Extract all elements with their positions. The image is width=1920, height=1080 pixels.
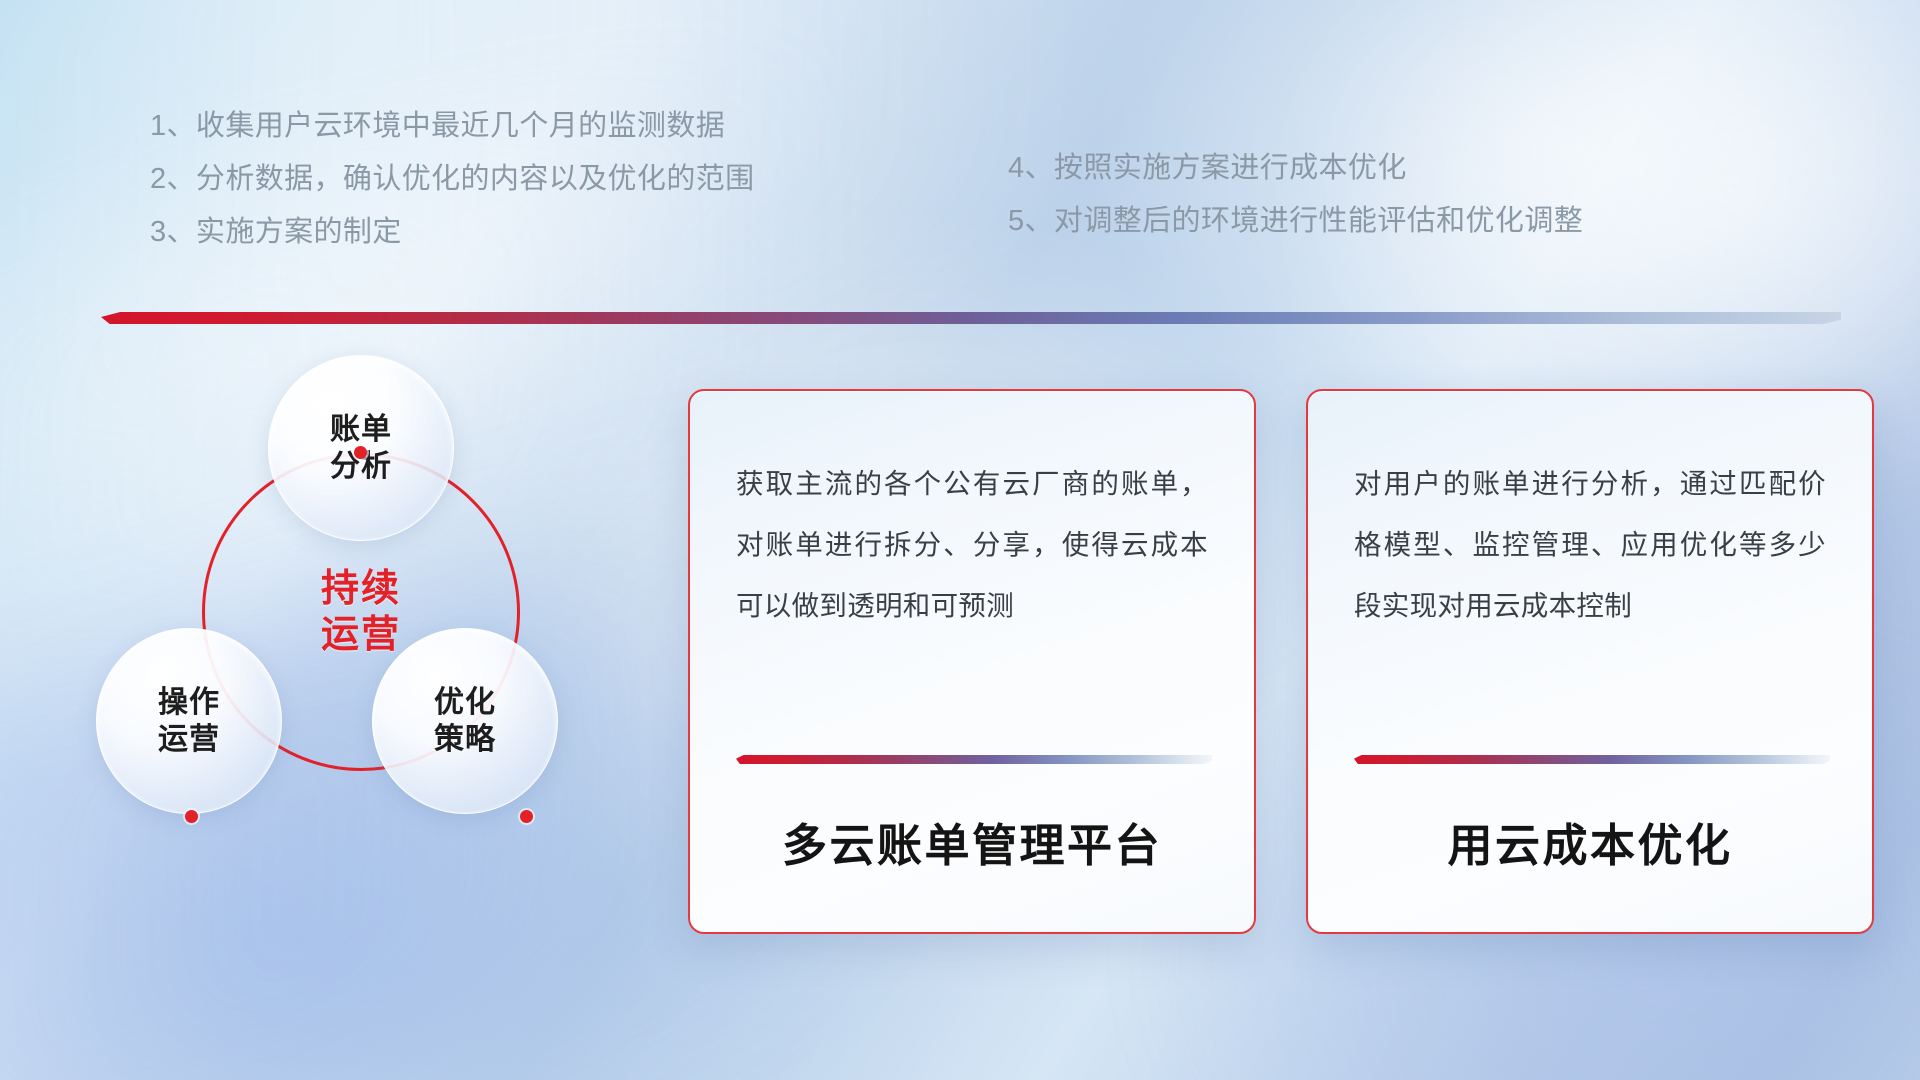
section-divider-bar (101, 312, 1841, 324)
card-title: 用云成本优化 (1308, 809, 1872, 874)
venn-node-label-line-2: 运营 (158, 721, 220, 758)
venn-node-label-line-1: 操作 (158, 684, 220, 721)
venn-node-operation[interactable]: 操作 运营 (96, 628, 282, 814)
process-step-item: 4、按照实施方案进行成本优化 (1008, 142, 1583, 195)
slide-canvas: 1、收集用户云环境中最近几个月的监测数据 2、分析数据，确认优化的内容以及优化的… (0, 0, 1920, 1080)
venn-node-label: 操作 运营 (158, 684, 220, 758)
venn-node-label-line-1: 账单 (330, 411, 392, 448)
venn-intersection-dot-bottom-left (185, 810, 198, 823)
card-body-text: 对用户的账单进行分析，通过匹配价格模型、监控管理、应用优化等多少段实现对用云成本… (1354, 453, 1826, 636)
continuous-operation-diagram: 持续 运营 账单 分析 操作 运营 优化 策略 (96, 360, 616, 940)
process-step-item: 2、分析数据，确认优化的内容以及优化的范围 (150, 153, 755, 206)
card-accent-rule (1354, 755, 1830, 764)
section-divider (101, 312, 1841, 324)
card-cloud-cost-optimization[interactable]: 对用户的账单进行分析，通过匹配价格模型、监控管理、应用优化等多少段实现对用云成本… (1306, 389, 1874, 934)
venn-node-label-line-1: 优化 (434, 684, 496, 721)
venn-node-label-line-2: 策略 (434, 721, 496, 758)
card-accent-rule-bar (1354, 755, 1830, 764)
card-title: 多云账单管理平台 (690, 809, 1254, 874)
card-body-text: 获取主流的各个公有云厂商的账单，对账单进行拆分、分享，使得云成本可以做到透明和可… (736, 453, 1208, 636)
process-step-item: 5、对调整后的环境进行性能评估和优化调整 (1008, 195, 1583, 248)
card-accent-rule-bar (736, 755, 1212, 764)
venn-intersection-dot-bottom-right (520, 810, 533, 823)
card-multi-cloud-billing[interactable]: 获取主流的各个公有云厂商的账单，对账单进行拆分、分享，使得云成本可以做到透明和可… (688, 389, 1256, 934)
process-step-item: 3、实施方案的制定 (150, 206, 755, 259)
card-accent-rule (736, 755, 1212, 764)
process-steps-left-column: 1、收集用户云环境中最近几个月的监测数据 2、分析数据，确认优化的内容以及优化的… (150, 100, 755, 259)
process-step-item: 1、收集用户云环境中最近几个月的监测数据 (150, 100, 755, 153)
venn-intersection-dot-top (354, 446, 367, 459)
process-steps-list: 1、收集用户云环境中最近几个月的监测数据 2、分析数据，确认优化的内容以及优化的… (0, 100, 1920, 290)
venn-node-label: 优化 策略 (434, 684, 496, 758)
venn-node-optimization-strategy[interactable]: 优化 策略 (372, 628, 558, 814)
process-steps-right-column: 4、按照实施方案进行成本优化 5、对调整后的环境进行性能评估和优化调整 (1008, 142, 1583, 248)
